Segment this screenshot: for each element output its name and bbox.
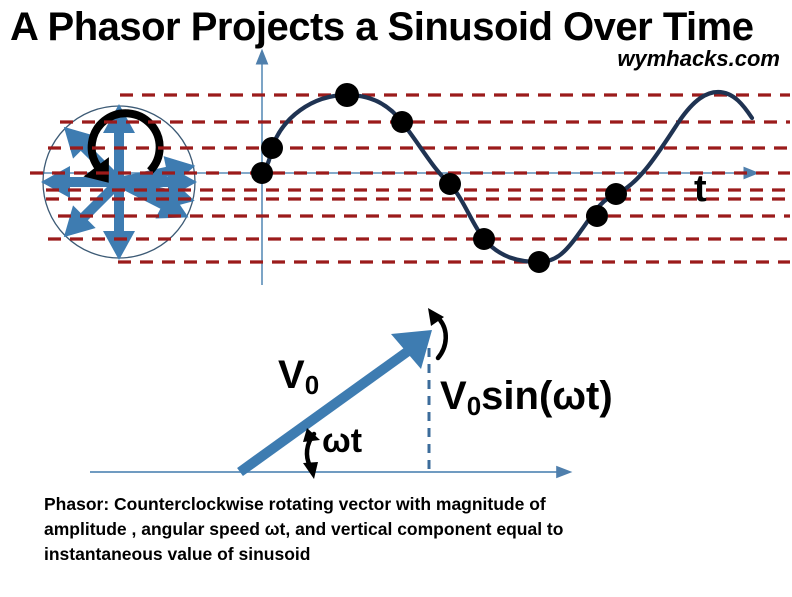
caption-line-2: amplitude , angular speed ωt, and vertic… (44, 517, 684, 542)
projection-subscript: 0 (467, 391, 481, 421)
time-axis-label: t (694, 170, 707, 208)
vector-magnitude-symbol: V (278, 353, 305, 397)
caption-line-3: instantaneous value of sinusoid (44, 542, 684, 567)
angle-label: ωt (322, 424, 362, 458)
sample-point-6 (528, 251, 550, 273)
projection-symbol: V (440, 374, 467, 418)
vector-magnitude-subscript: 0 (305, 370, 319, 400)
sinusoid-curve (262, 92, 752, 262)
phasor-circle-group (41, 104, 199, 260)
sample-point-8 (605, 183, 627, 205)
sample-point-2 (335, 83, 359, 107)
sample-point-5 (473, 228, 495, 250)
caption-line-1: Phasor: Counterclockwise rotating vector… (44, 492, 684, 517)
sinusoid-curve-group (262, 92, 752, 262)
projection-function: sin(ωt) (481, 374, 613, 418)
phasor-diagram-figure: A Phasor Projects a Sinusoid Over Time w… (0, 0, 792, 597)
phasor-arrow-set (41, 104, 199, 260)
sample-point-4 (439, 173, 461, 195)
sample-point-0 (251, 162, 273, 184)
sample-point-3 (391, 111, 413, 133)
vector-magnitude-label: V0 (278, 355, 319, 399)
sample-point-1 (261, 137, 283, 159)
sample-point-7 (586, 205, 608, 227)
projection-label: V0sin(ωt) (440, 376, 613, 420)
caption-block: Phasor: Counterclockwise rotating vector… (44, 492, 684, 567)
